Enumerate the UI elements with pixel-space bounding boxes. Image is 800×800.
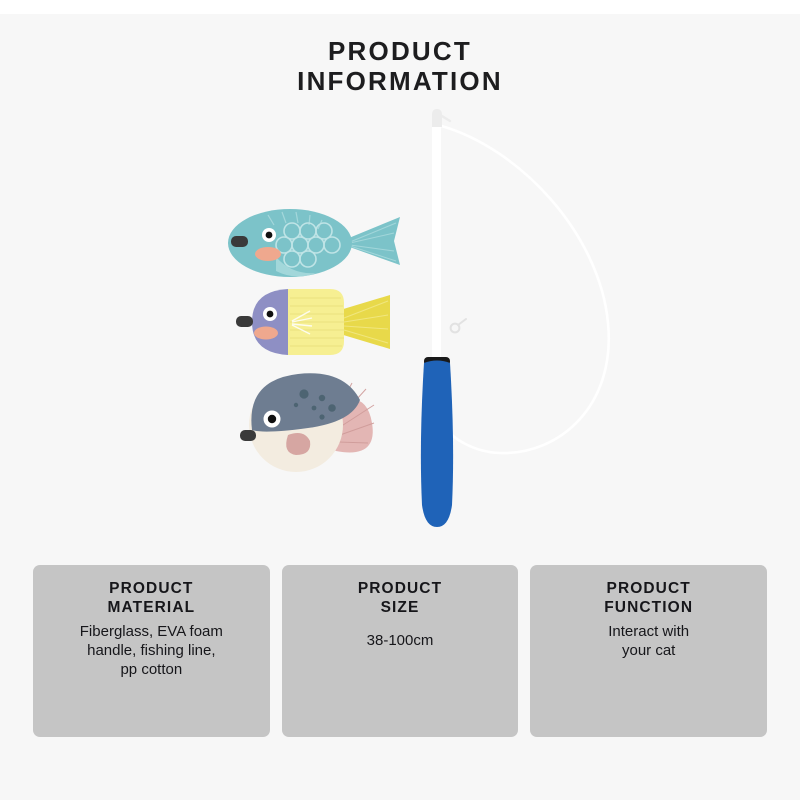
card-product-size: PRODUCT SIZE 38-100cm — [282, 565, 519, 737]
fish2-head — [252, 289, 288, 355]
card-function-body: Interact with your cat — [608, 622, 689, 660]
card-product-function: PRODUCT FUNCTION Interact with your cat — [530, 565, 767, 737]
rod-tip-guide-icon — [432, 109, 442, 127]
fishing-line — [438, 125, 609, 453]
top-white-strip — [0, 0, 800, 14]
line-eyelet-guide-icon — [451, 319, 466, 332]
fish-yellow-striped-fish — [236, 289, 390, 355]
fish1-pupil — [266, 232, 273, 239]
product-info-cards: PRODUCT MATERIAL Fiberglass, EVA foam ha… — [33, 565, 767, 737]
card-material-body: Fiberglass, EVA foam handle, fishing lin… — [80, 622, 223, 679]
card-size-heading: PRODUCT SIZE — [358, 579, 442, 617]
page-title: PRODUCT INFORMATION — [0, 36, 800, 96]
fish1-clip-icon — [231, 236, 248, 247]
page-title-line-1: PRODUCT — [0, 36, 800, 66]
page-title-line-2: INFORMATION — [0, 66, 800, 96]
fish-teal-scaled-fish — [228, 209, 400, 277]
fish1-cheek — [255, 247, 281, 261]
fish3-pupil — [268, 415, 276, 423]
rod-foam-handle — [421, 361, 453, 528]
card-product-material: PRODUCT MATERIAL Fiberglass, EVA foam ha… — [33, 565, 270, 737]
product-illustration — [0, 105, 800, 545]
card-size-body: 38-100cm — [367, 631, 434, 650]
fishing-rod — [421, 109, 609, 527]
fish2-pupil — [267, 311, 274, 318]
fish2-clip-icon — [236, 316, 253, 327]
fish3-clip-icon — [240, 430, 256, 441]
product-information-poster: PRODUCT INFORMATION — [0, 0, 800, 800]
fish2-cheek — [254, 327, 278, 340]
card-material-heading: PRODUCT MATERIAL — [107, 579, 195, 617]
card-function-heading: PRODUCT FUNCTION — [604, 579, 693, 617]
fish-gray-pufferfish — [240, 373, 374, 472]
